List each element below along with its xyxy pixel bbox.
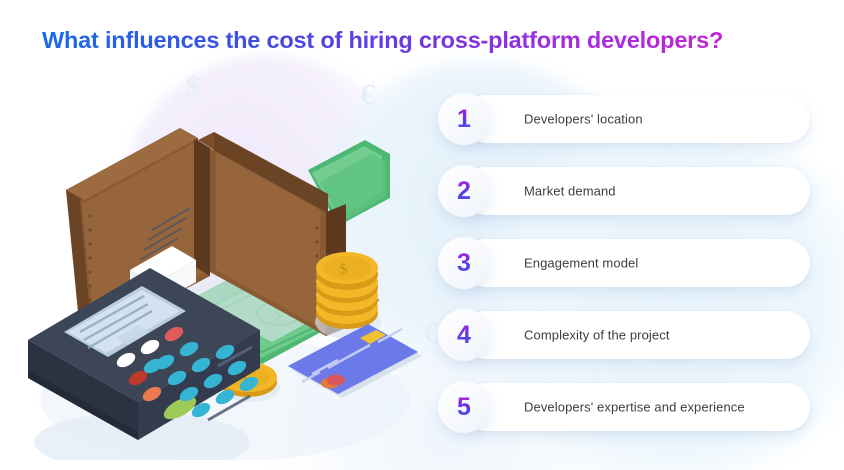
list-item-pill[interactable]: Engagement model — [462, 239, 810, 287]
list-item-badge: 1 — [438, 93, 490, 145]
list-item[interactable]: Developers' location 1 — [438, 93, 810, 145]
factors-list: Developers' location 1 Market demand 2 E… — [438, 93, 810, 433]
list-item[interactable]: Complexity of the project 4 — [438, 309, 810, 361]
infographic-page: $ € ¢ $ € What influences the cost of hi… — [0, 0, 844, 470]
list-item-pill[interactable]: Developers' location — [462, 95, 810, 143]
list-item-badge: 2 — [438, 165, 490, 217]
list-item-number: 3 — [457, 251, 471, 276]
list-item-pill[interactable]: Market demand — [462, 167, 810, 215]
list-item-label: Developers' location — [524, 112, 643, 127]
list-item-number: 4 — [457, 323, 471, 348]
list-item-pill[interactable]: Complexity of the project — [462, 311, 810, 359]
list-item-label: Market demand — [524, 184, 616, 199]
list-item-number: 2 — [457, 179, 471, 204]
payment-illustration: $ — [20, 70, 430, 460]
list-item-badge: 4 — [438, 309, 490, 361]
list-item-number: 1 — [457, 107, 471, 132]
list-item[interactable]: Market demand 2 — [438, 165, 810, 217]
list-item[interactable]: Developers' expertise and experience 5 — [438, 381, 810, 433]
list-item-label: Complexity of the project — [524, 328, 670, 343]
page-title: What influences the cost of hiring cross… — [42, 27, 723, 54]
list-item[interactable]: Engagement model 3 — [438, 237, 810, 289]
list-item-badge: 5 — [438, 381, 490, 433]
list-item-number: 5 — [457, 395, 471, 420]
list-item-pill[interactable]: Developers' expertise and experience — [462, 383, 810, 431]
list-item-badge: 3 — [438, 237, 490, 289]
list-item-label: Developers' expertise and experience — [524, 400, 745, 415]
list-item-label: Engagement model — [524, 256, 638, 271]
